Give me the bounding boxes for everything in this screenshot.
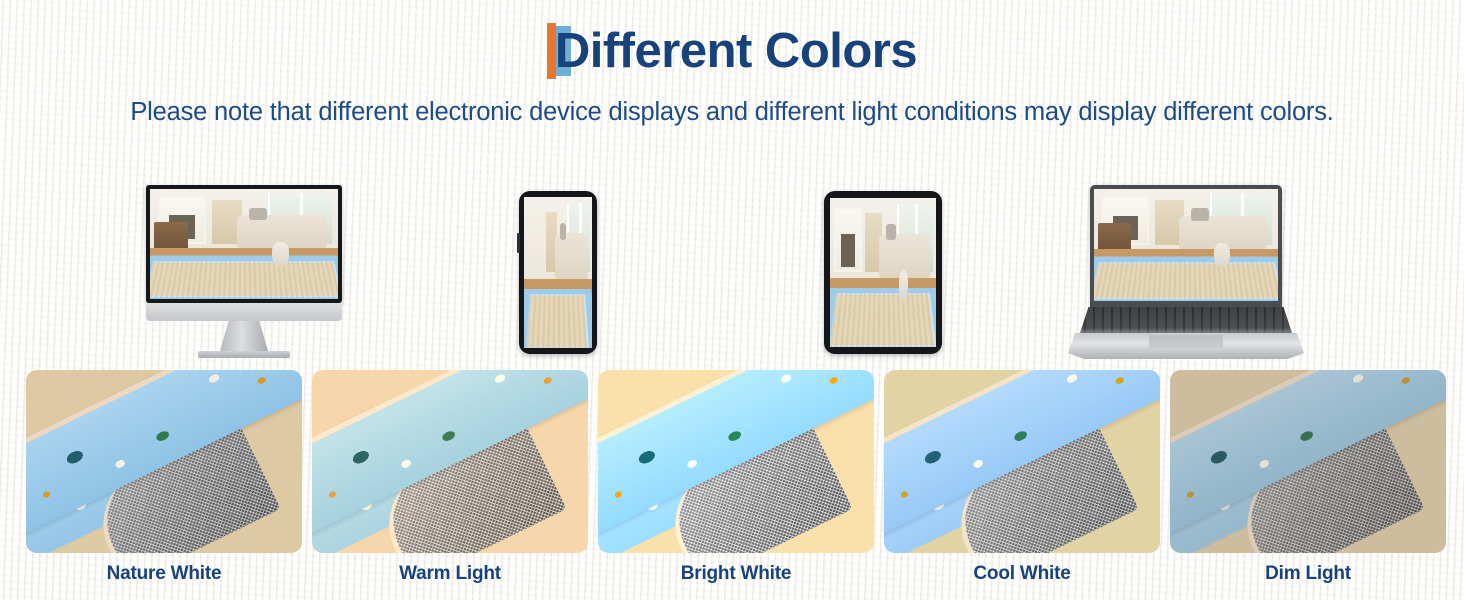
- laptop-keyboard-icon: [1080, 307, 1292, 333]
- monitor-chin: [146, 303, 342, 321]
- device-desktop-monitor: [146, 185, 342, 365]
- page-subtitle: Please note that different electronic de…: [0, 96, 1464, 129]
- swatch-label-warm-light: Warm Light: [312, 563, 588, 585]
- laptop-trackpad-icon: [1149, 335, 1223, 350]
- swatch-dim-light[interactable]: Dim Light: [1170, 370, 1446, 585]
- device-laptop: [1068, 185, 1304, 365]
- swatch-image-bright-white[interactable]: [598, 370, 874, 553]
- device-smartphone: [519, 191, 597, 354]
- title-row: Different Colors: [0, 16, 1464, 86]
- tablet-room-scene-image: [830, 198, 936, 347]
- page-title: Different Colors: [555, 27, 917, 76]
- page-background: Different Colors Please note that differ…: [0, 0, 1464, 600]
- swatch-label-bright-white: Bright White: [598, 563, 874, 585]
- swatch-image-dim-light[interactable]: [1170, 370, 1446, 553]
- laptop-keyboard-area: [1068, 307, 1304, 333]
- monitor-screen-bezel: [146, 185, 342, 303]
- tablet-bezel: [824, 191, 942, 354]
- swatch-image-nature-white[interactable]: [26, 370, 302, 553]
- laptop-lid: [1090, 185, 1282, 307]
- swatch-label-nature-white: Nature White: [26, 563, 302, 585]
- monitor-stand-base: [198, 351, 290, 358]
- laptop-palmrest: [1068, 333, 1304, 359]
- device-showcase: [0, 185, 1464, 365]
- swatch-image-cool-white[interactable]: [884, 370, 1160, 553]
- monitor-room-scene-image: [150, 189, 338, 299]
- header: Different Colors Please note that differ…: [0, 0, 1464, 129]
- swatch-label-cool-white: Cool White: [884, 563, 1160, 585]
- swatch-label-dim-light: Dim Light: [1170, 563, 1446, 585]
- laptop-room-scene-image: [1094, 189, 1278, 301]
- color-swatch-row: Nature White Warm Light: [26, 370, 1438, 585]
- swatch-warm-light[interactable]: Warm Light: [312, 370, 588, 585]
- swatch-nature-white[interactable]: Nature White: [26, 370, 302, 585]
- swatch-bright-white[interactable]: Bright White: [598, 370, 874, 585]
- phone-side-button-icon: [517, 233, 520, 253]
- phone-room-scene-image: [524, 197, 592, 348]
- monitor-stand-neck: [220, 321, 268, 351]
- phone-bezel: [519, 191, 597, 354]
- swatch-cool-white[interactable]: Cool White: [884, 370, 1160, 585]
- swatch-image-warm-light[interactable]: [312, 370, 588, 553]
- device-tablet: [824, 191, 942, 354]
